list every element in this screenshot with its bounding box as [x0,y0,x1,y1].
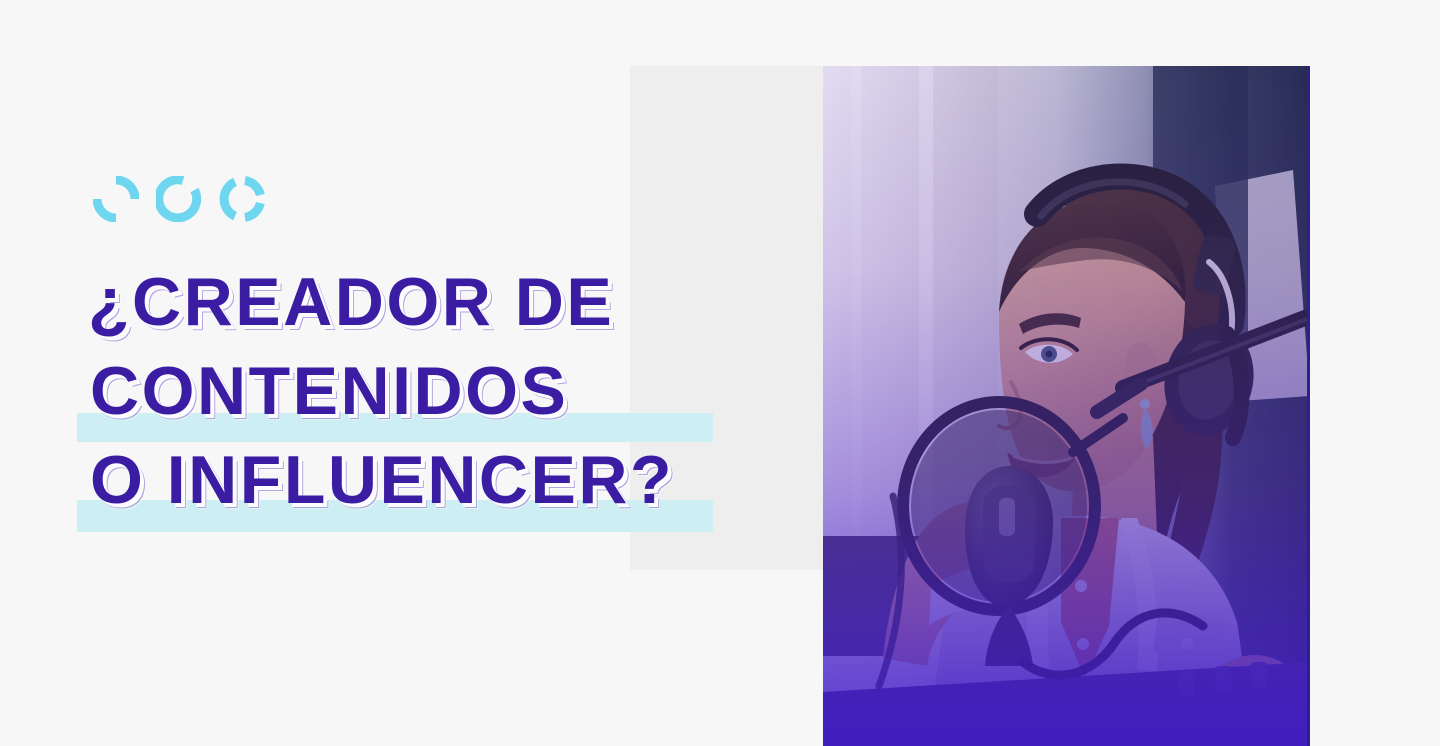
decorative-icon-row [93,176,265,222]
split-arc-icon [93,176,139,222]
slide-canvas: ¿CREADOR DE CONTENIDOS O INFLUENCER? [0,0,1440,746]
headline-line-2: CONTENIDOS [90,347,748,436]
segmented-ring-icon [219,176,265,222]
hero-photo [823,66,1310,746]
page-title: ¿CREADOR DE CONTENIDOS O INFLUENCER? [88,258,748,525]
podcast-host-illustration [823,66,1310,746]
headline-line-1: ¿CREADOR DE [88,258,748,347]
open-ring-icon [156,176,202,222]
headline-line-3: O INFLUENCER? [90,436,748,525]
